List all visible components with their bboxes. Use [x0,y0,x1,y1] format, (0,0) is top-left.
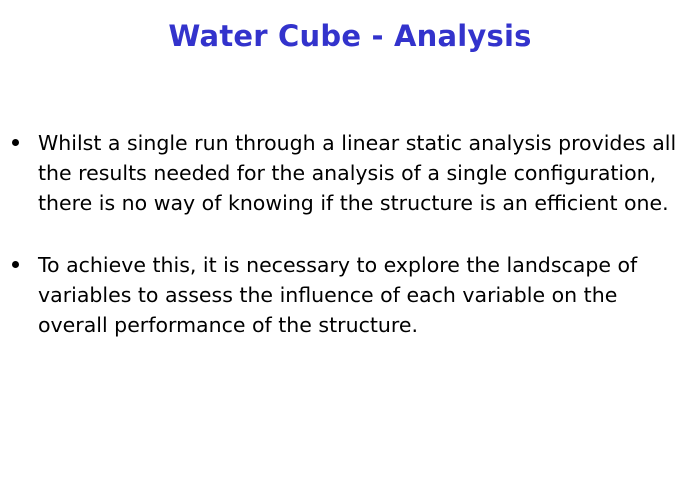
bullet-point-icon [12,261,19,268]
slide-body: Whilst a single run through a linear sta… [0,128,700,340]
bullet-item-2-text: To achieve this, it is necessary to expl… [38,250,690,340]
bullet-item-2: To achieve this, it is necessary to expl… [0,250,700,340]
bullet-item-1: Whilst a single run through a linear sta… [0,128,700,218]
bullet-point-icon [12,139,19,146]
presentation-slide: Water Cube - Analysis Whilst a single ru… [0,0,700,479]
bullet-item-1-text: Whilst a single run through a linear sta… [38,128,690,218]
page-title: Water Cube - Analysis [0,18,700,54]
